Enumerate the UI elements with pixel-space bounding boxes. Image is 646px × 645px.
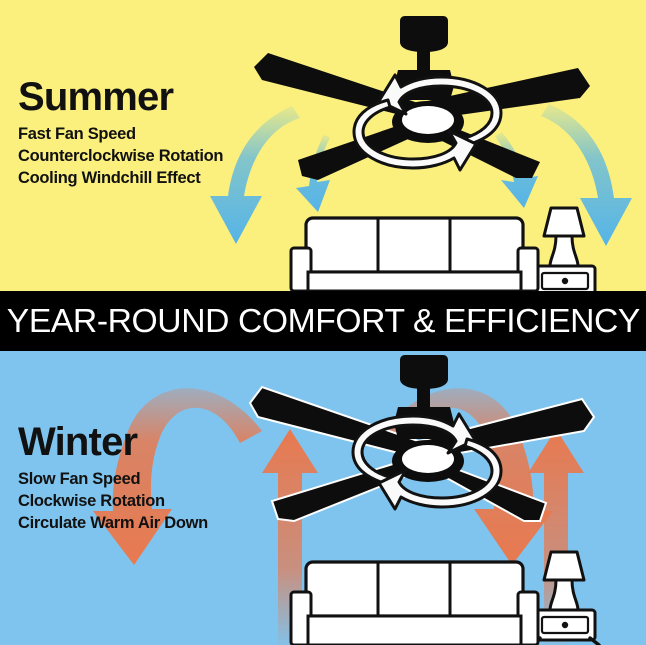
winter-furniture <box>291 552 599 645</box>
winter-line-2: Clockwise Rotation <box>18 491 208 513</box>
fan-ceiling-canopy <box>400 16 448 52</box>
summer-text-block: Summer Fast Fan Speed Counterclockwise R… <box>18 77 223 189</box>
table-lamp-summer <box>544 208 584 266</box>
fan-light-dome <box>402 106 454 134</box>
center-banner: YEAR-ROUND COMFORT & EFFICIENCY <box>0 291 646 351</box>
summer-furniture <box>291 208 599 291</box>
nightstand-summer <box>531 266 599 291</box>
sofa-winter <box>291 562 538 645</box>
infographic-root: Summer Fast Fan Speed Counterclockwise R… <box>0 0 646 645</box>
fan-light-dome-winter <box>402 445 454 473</box>
winter-title: Winter <box>18 422 208 462</box>
winter-line-3: Circulate Warm Air Down <box>18 513 208 535</box>
summer-title: Summer <box>18 77 223 117</box>
summer-line-1: Fast Fan Speed <box>18 124 223 146</box>
nightstand-winter <box>531 610 599 645</box>
summer-line-2: Counterclockwise Rotation <box>18 146 223 168</box>
winter-text-block: Winter Slow Fan Speed Clockwise Rotation… <box>18 422 208 534</box>
summer-line-3: Cooling Windchill Effect <box>18 168 223 190</box>
banner-title: YEAR-ROUND COMFORT & EFFICIENCY <box>6 302 639 340</box>
winter-line-1: Slow Fan Speed <box>18 469 208 491</box>
sofa-summer <box>291 218 538 291</box>
airflow-arrow-left-outer <box>210 106 300 244</box>
ceiling-fan-summer <box>254 16 590 180</box>
fan-ceiling-canopy-winter <box>400 355 448 389</box>
